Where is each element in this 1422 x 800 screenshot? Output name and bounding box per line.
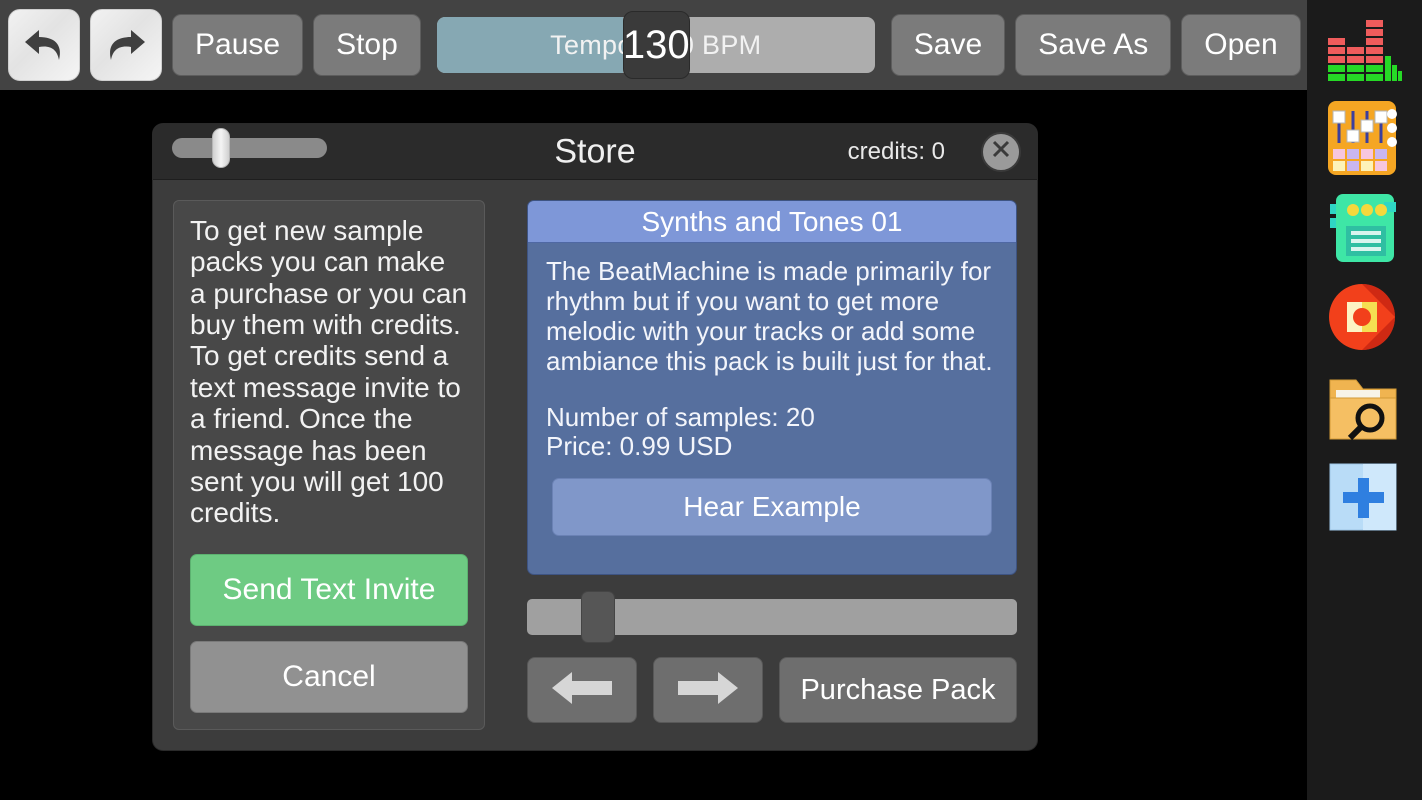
tempo-slider[interactable]: Tempo: 130 BPM 130 <box>437 17 875 73</box>
hear-example-button[interactable]: Hear Example <box>552 478 992 536</box>
previous-pack-button[interactable] <box>527 657 637 723</box>
arrow-right-icon <box>676 669 740 712</box>
undo-arrow-icon <box>19 20 69 70</box>
credits-label: credits: 0 <box>848 138 945 166</box>
product-title: Synths and Tones 01 <box>528 201 1016 243</box>
dialog-body: To get new sample packs you can make a p… <box>153 180 1037 750</box>
store-dialog: Store credits: 0 To get new sample packs… <box>153 124 1037 750</box>
redo-arrow-icon <box>101 20 151 70</box>
top-toolbar: Pause Stop Tempo: 130 BPM 130 Save Save … <box>0 0 1307 90</box>
dialog-header: Store credits: 0 <box>153 124 1037 180</box>
right-icon-rail <box>1307 0 1422 800</box>
send-text-invite-button[interactable]: Send Text Invite <box>190 554 468 626</box>
product-samples-count: Number of samples: 20 <box>546 403 998 433</box>
rail-item-add[interactable] <box>1326 458 1404 538</box>
app-root: Pause Stop Tempo: 130 BPM 130 Save Save … <box>0 0 1422 800</box>
equalizer-bars-icon <box>1326 8 1404 88</box>
stop-button[interactable]: Stop <box>313 14 421 76</box>
arrow-left-icon <box>550 669 614 712</box>
undo-button[interactable] <box>8 9 80 81</box>
info-panel: To get new sample packs you can make a p… <box>173 200 485 730</box>
open-button[interactable]: Open <box>1181 14 1300 76</box>
next-pack-button[interactable] <box>653 657 763 723</box>
tempo-thumb[interactable]: 130 <box>623 11 690 79</box>
close-x-icon <box>990 138 1012 165</box>
product-price: Price: 0.99 USD <box>546 432 998 462</box>
product-body: The BeatMachine is made primarily for rh… <box>528 243 1016 574</box>
mixer-pads-icon <box>1326 98 1404 178</box>
folder-search-icon <box>1326 368 1404 448</box>
rail-item-record[interactable] <box>1326 278 1404 358</box>
pack-scrollbar[interactable] <box>527 599 1017 635</box>
rail-item-mixer[interactable] <box>1326 98 1404 178</box>
product-description: The BeatMachine is made primarily for rh… <box>546 257 998 377</box>
save-as-button[interactable]: Save As <box>1015 14 1171 76</box>
product-card: Synths and Tones 01 The BeatMachine is m… <box>527 200 1017 575</box>
redo-button[interactable] <box>90 9 162 81</box>
purchase-pack-button[interactable]: Purchase Pack <box>779 657 1017 723</box>
pause-button[interactable]: Pause <box>172 14 303 76</box>
cancel-button[interactable]: Cancel <box>190 641 468 713</box>
save-button[interactable]: Save <box>891 14 1005 76</box>
rail-item-synth[interactable] <box>1326 188 1404 268</box>
synth-module-icon <box>1326 188 1404 268</box>
plus-square-icon <box>1326 458 1404 538</box>
info-text: To get new sample packs you can make a p… <box>190 215 468 546</box>
product-nav-row: Purchase Pack <box>527 657 1017 723</box>
product-column: Synths and Tones 01 The BeatMachine is m… <box>527 200 1017 730</box>
record-circle-icon <box>1326 278 1404 358</box>
close-button[interactable] <box>981 132 1021 172</box>
rail-item-equalizer[interactable] <box>1326 8 1404 88</box>
pack-scrollbar-thumb[interactable] <box>581 591 615 643</box>
rail-item-browse[interactable] <box>1326 368 1404 448</box>
